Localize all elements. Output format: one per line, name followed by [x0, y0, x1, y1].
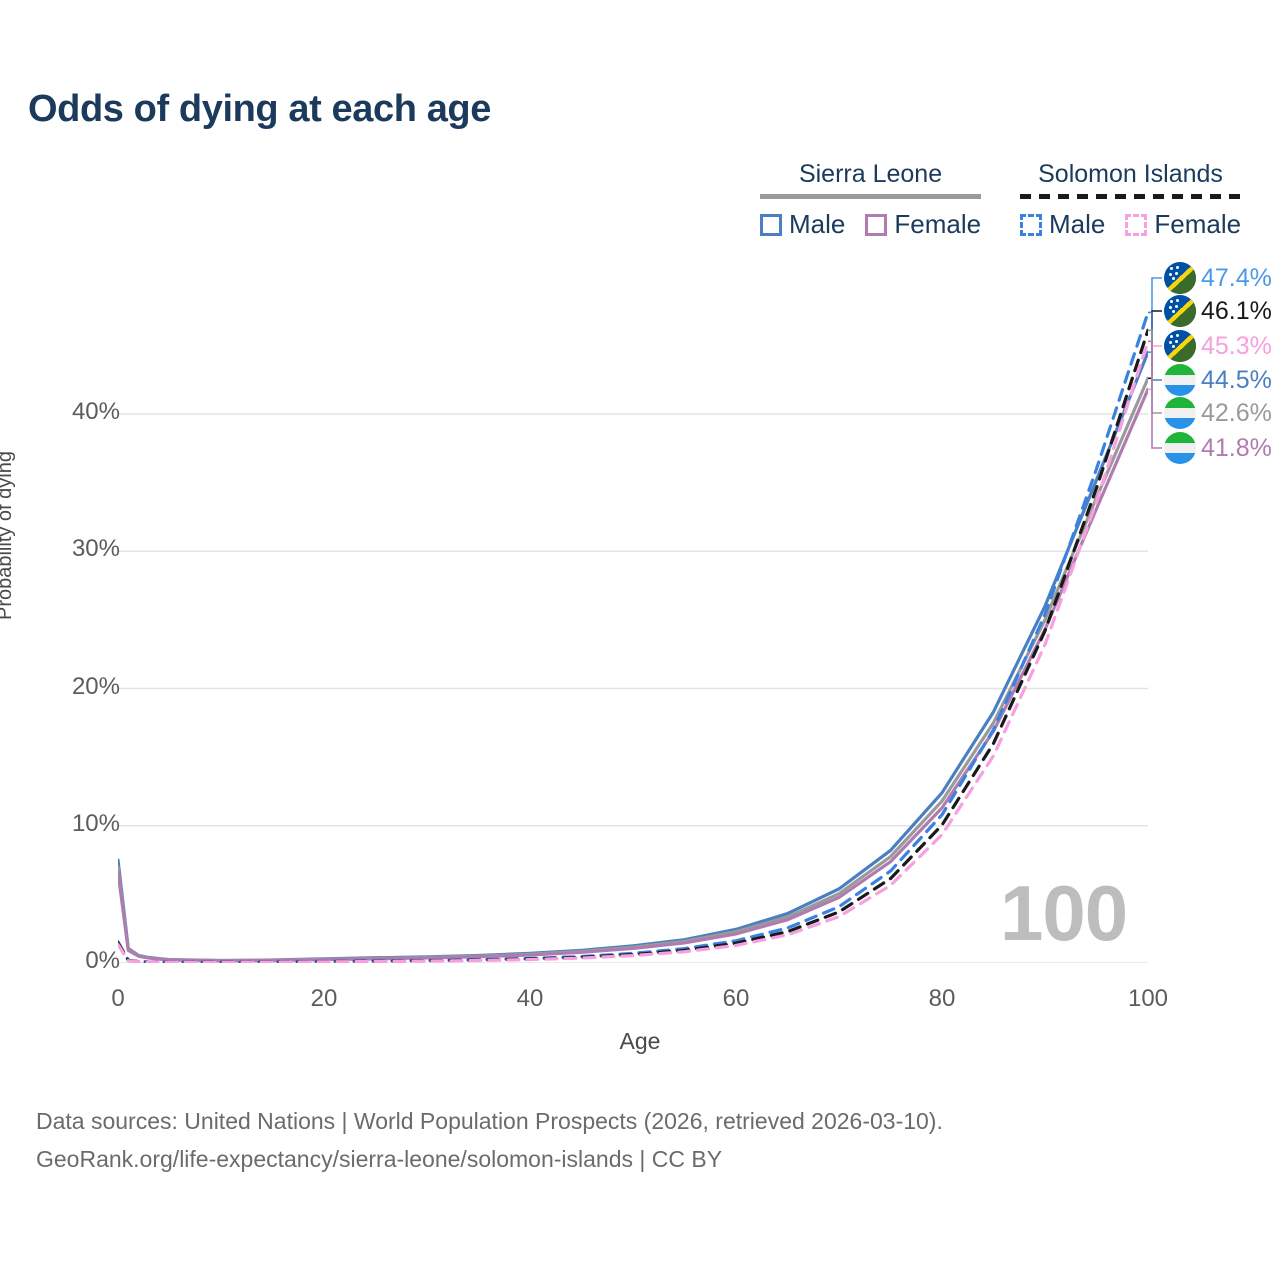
x-axis-tick: 80	[897, 985, 987, 1013]
x-axis-tick: 40	[485, 985, 575, 1013]
end-label-sierra-male: 44.5%	[1164, 364, 1272, 396]
series-line-solomon-islands-female	[118, 341, 1148, 962]
end-label-value: 47.4%	[1201, 264, 1272, 293]
end-label-value: 42.6%	[1201, 399, 1272, 428]
series-line-sierra-leone-male	[118, 352, 1148, 960]
series-line-solomon-islands-total	[118, 330, 1148, 962]
footer-line-1: Data sources: United Nations | World Pop…	[36, 1103, 943, 1141]
legend-items: MaleFemale	[760, 209, 981, 240]
y-axis-tick: 0%	[0, 947, 120, 975]
x-axis-tick: 100	[1103, 985, 1193, 1013]
legend-item-male[interactable]: Male	[760, 209, 845, 240]
legend-country-name: Solomon Islands	[1020, 160, 1241, 194]
legend-group-solomon-islands: Solomon IslandsMaleFemale	[1020, 160, 1241, 240]
end-label-sierra-total: 42.6%	[1164, 397, 1272, 429]
end-label-sierra-female: 41.8%	[1164, 432, 1272, 464]
x-axis-label: Age	[0, 1028, 1280, 1055]
chart-legend: Sierra LeoneMaleFemaleSolomon IslandsMal…	[760, 160, 1250, 242]
legend-swatch-icon	[1125, 214, 1147, 236]
watermark-age: 100	[1000, 868, 1127, 959]
x-axis-tick: 60	[691, 985, 781, 1013]
end-label-value: 41.8%	[1201, 434, 1272, 463]
flag-icon-sierra-leone	[1164, 432, 1196, 464]
legend-swatch-icon	[760, 214, 782, 236]
legend-item-male[interactable]: Male	[1020, 209, 1105, 240]
legend-item-label: Male	[1049, 209, 1105, 240]
legend-rule-dashed	[1020, 194, 1241, 199]
y-axis-tick: 20%	[0, 673, 120, 701]
series-line-sierra-leone-female	[118, 389, 1148, 961]
flag-icon-solomon-islands	[1164, 262, 1196, 294]
legend-swatch-icon	[865, 214, 887, 236]
y-axis-tick: 40%	[0, 398, 120, 426]
legend-country-name: Sierra Leone	[760, 160, 981, 194]
end-label-solomon-total: 46.1%	[1164, 295, 1272, 327]
legend-rule-solid	[760, 194, 981, 199]
flag-icon-solomon-islands	[1164, 295, 1196, 327]
legend-swatch-icon	[1020, 214, 1042, 236]
end-label-solomon-male: 47.4%	[1164, 262, 1272, 294]
x-axis-tick: 20	[279, 985, 369, 1013]
y-axis-tick: 10%	[0, 810, 120, 838]
legend-group-sierra-leone: Sierra LeoneMaleFemale	[760, 160, 981, 240]
legend-item-female[interactable]: Female	[865, 209, 981, 240]
legend-item-label: Female	[894, 209, 981, 240]
chart-page: Odds of dying at each age Sierra LeoneMa…	[0, 0, 1280, 1280]
footer-line-2: GeoRank.org/life-expectancy/sierra-leone…	[36, 1141, 943, 1179]
legend-item-label: Female	[1154, 209, 1241, 240]
flag-icon-sierra-leone	[1164, 397, 1196, 429]
series-line-solomon-islands-male	[118, 312, 1148, 962]
flag-icon-solomon-islands	[1164, 330, 1196, 362]
legend-item-label: Male	[789, 209, 845, 240]
end-label-value: 44.5%	[1201, 366, 1272, 395]
flag-icon-sierra-leone	[1164, 364, 1196, 396]
end-label-value: 45.3%	[1201, 332, 1272, 361]
plot-svg	[118, 244, 1148, 963]
series-line-sierra-leone-total	[118, 378, 1148, 960]
footer: Data sources: United Nations | World Pop…	[36, 1103, 943, 1179]
legend-items: MaleFemale	[1020, 209, 1241, 240]
x-axis-tick: 0	[73, 985, 163, 1013]
end-label-value: 46.1%	[1201, 297, 1272, 326]
end-label-solomon-female: 45.3%	[1164, 330, 1272, 362]
legend-item-female[interactable]: Female	[1125, 209, 1241, 240]
plot-area	[118, 244, 1148, 963]
y-axis-tick: 30%	[0, 535, 120, 563]
page-title: Odds of dying at each age	[28, 88, 491, 131]
